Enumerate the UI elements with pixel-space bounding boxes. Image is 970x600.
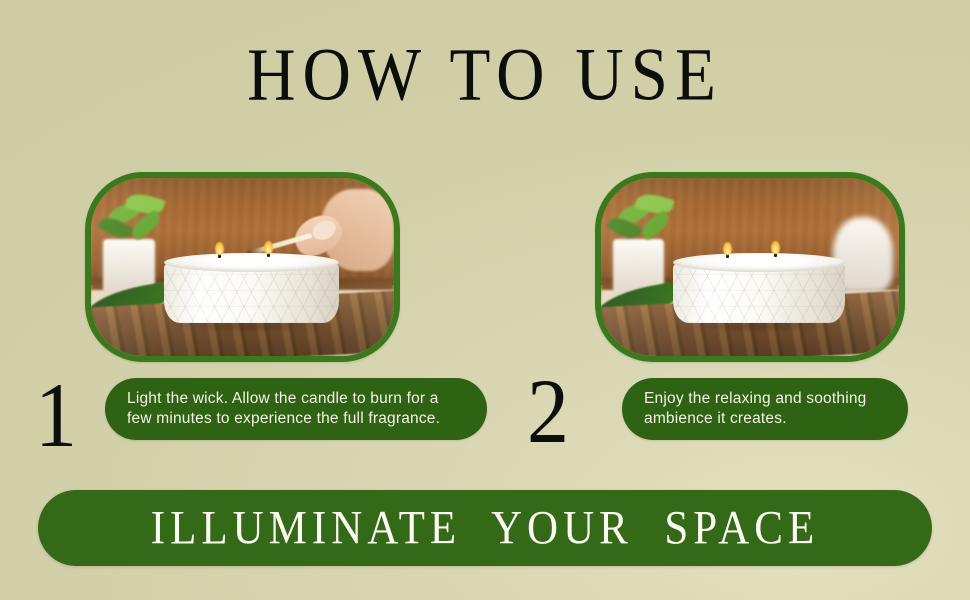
plant-leaves: [97, 192, 170, 249]
step-1-photo-frame: [85, 172, 400, 362]
flame-icon: [723, 242, 732, 255]
step-1-photo: [91, 178, 394, 356]
step-1-number: 1: [35, 370, 77, 462]
flame-icon: [771, 241, 780, 254]
plant-leaves: [607, 192, 679, 249]
poster-canvas: HOW TO USE: [0, 0, 970, 600]
cta-banner: ILLUMINATE YOUR SPACE: [38, 490, 932, 566]
flame-icon: [215, 242, 224, 255]
step-1-caption: Light the wick. Allow the candle to burn…: [105, 378, 487, 440]
step-2-number: 2: [527, 366, 569, 458]
step-2-photo-frame: [595, 172, 905, 362]
candle-wax-top: [164, 253, 340, 272]
step-2-caption: Enjoy the relaxing and soothing ambience…: [622, 378, 908, 440]
candle: [164, 253, 340, 328]
flame-icon: [264, 241, 273, 254]
candle: [673, 253, 846, 328]
page-title: HOW TO USE: [0, 38, 970, 113]
candle-wax-top: [673, 253, 846, 272]
cta-banner-text: ILLUMINATE YOUR SPACE: [151, 501, 819, 555]
step-2-photo: [601, 178, 899, 356]
